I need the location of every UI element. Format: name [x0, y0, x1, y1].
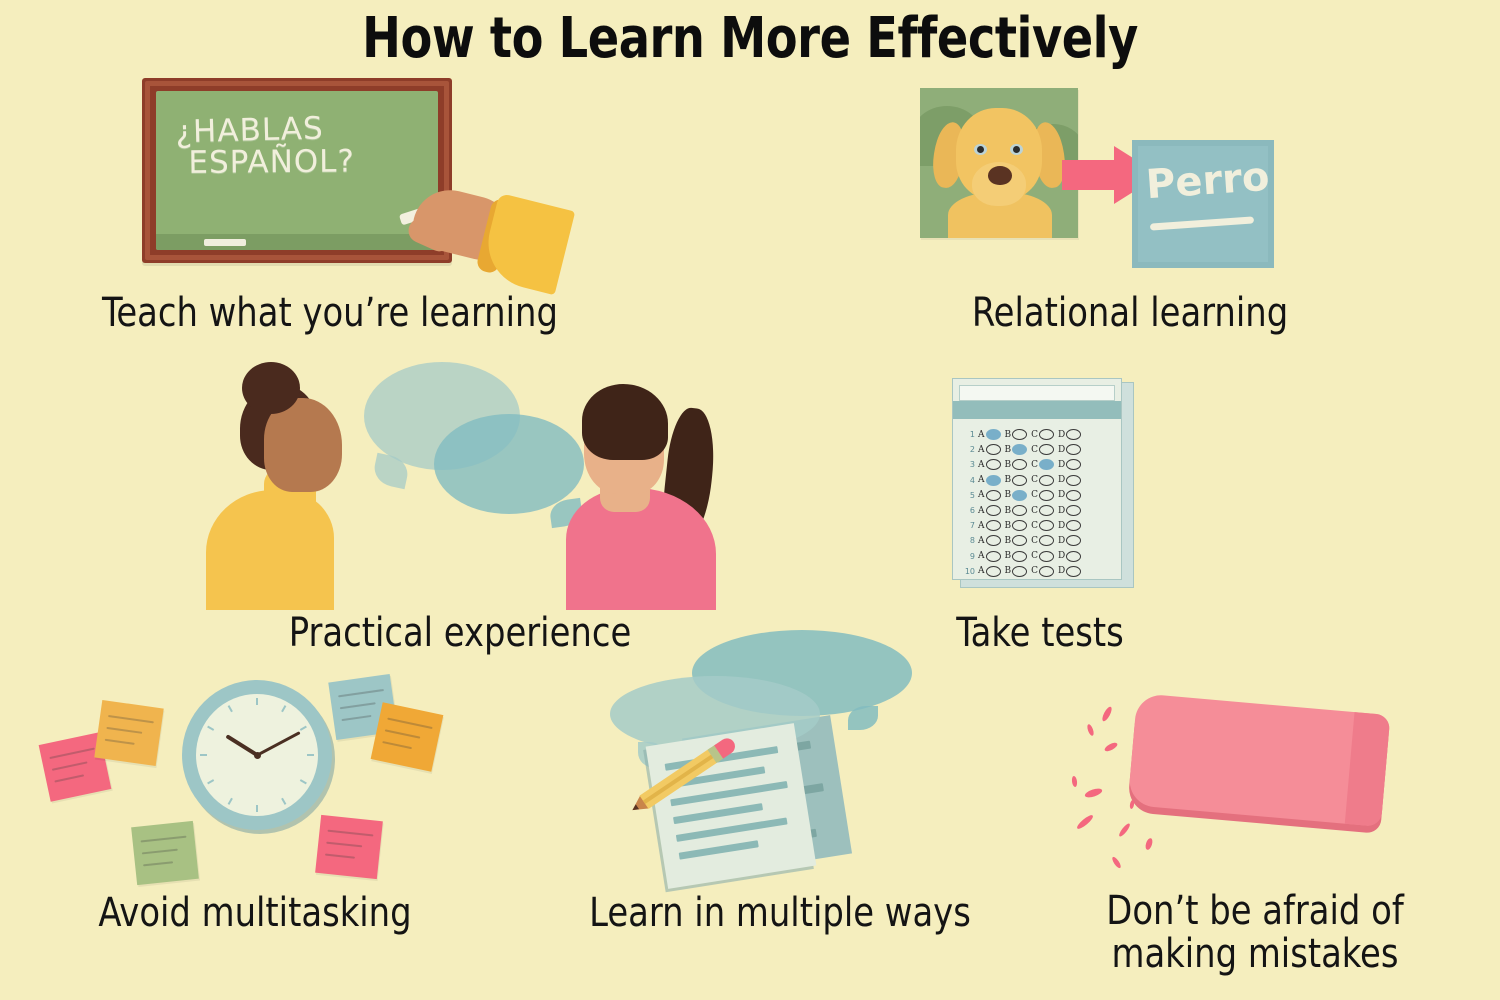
answer-option-d[interactable]: D — [1058, 535, 1081, 546]
option-bubble[interactable] — [1039, 475, 1054, 486]
option-bubble[interactable] — [1012, 444, 1027, 455]
scantron-answer-sheet-illustration: 1ABCD2ABCD3ABCD4ABCD5ABCD6ABCD7ABCD8ABCD… — [952, 378, 1128, 586]
eraser-shaving — [1111, 856, 1122, 870]
answer-row[interactable]: 2ABCD — [963, 442, 1113, 457]
answer-option-d[interactable]: D — [1058, 459, 1081, 470]
option-letter: D — [1058, 490, 1065, 500]
dog-eye-right — [1010, 144, 1023, 155]
answer-row[interactable]: 5ABCD — [963, 488, 1113, 503]
sticky-note — [94, 700, 163, 766]
clock-tick — [207, 726, 214, 731]
option-bubble[interactable] — [986, 444, 1001, 455]
answer-option-a[interactable]: A — [978, 505, 1001, 516]
option-bubble[interactable] — [1066, 520, 1081, 531]
answer-option-c[interactable]: C — [1031, 429, 1054, 440]
caption-learn-in-multiple-ways: Learn in multiple ways — [554, 892, 1005, 935]
eraser-shaving — [1144, 837, 1153, 850]
clock-face — [196, 694, 318, 816]
question-number: 4 — [963, 476, 975, 485]
option-letter: A — [978, 475, 985, 485]
answer-option-d[interactable]: D — [1058, 475, 1081, 486]
option-bubble[interactable] — [1012, 475, 1027, 486]
caption-teach-what-youre-learning: Teach what you’re learning — [76, 292, 584, 335]
option-bubble[interactable] — [1039, 520, 1054, 531]
eraser-illustration — [1060, 680, 1450, 880]
answer-option-c[interactable]: C — [1031, 566, 1054, 577]
answer-option-d[interactable]: D — [1058, 490, 1081, 501]
option-bubble[interactable] — [1066, 429, 1081, 440]
option-letter: B — [1005, 551, 1012, 561]
clock-minute-hand — [256, 731, 300, 756]
sticky-note — [315, 815, 383, 879]
clock-tick — [281, 705, 286, 712]
question-number: 2 — [963, 445, 975, 454]
option-bubble[interactable] — [1066, 475, 1081, 486]
answer-option-b[interactable]: B — [1005, 490, 1028, 501]
clock-tick — [300, 779, 307, 784]
answer-option-b[interactable]: B — [1005, 505, 1028, 516]
clock-center-pin — [254, 752, 261, 759]
answer-option-d[interactable]: D — [1058, 520, 1081, 531]
answer-sheet-rows: 1ABCD2ABCD3ABCD4ABCD5ABCD6ABCD7ABCD8ABCD… — [963, 427, 1113, 579]
clock-tick — [281, 798, 286, 805]
option-bubble[interactable] — [1012, 551, 1027, 562]
option-letter: D — [1058, 460, 1065, 470]
option-bubble[interactable] — [1039, 551, 1054, 562]
option-letter: D — [1058, 445, 1065, 455]
papers-and-pencil-illustration — [600, 630, 920, 880]
answer-option-c[interactable]: C — [1031, 535, 1054, 546]
eraser-shaving — [1129, 800, 1135, 810]
option-letter: C — [1031, 490, 1038, 500]
caption-relational-learning: Relational learning — [914, 292, 1346, 335]
page-title: How to Learn More Effectively — [60, 6, 1440, 71]
option-letter: C — [1031, 506, 1038, 516]
answer-option-c[interactable]: C — [1031, 475, 1054, 486]
eraser-shaving — [1071, 776, 1077, 788]
answer-option-c[interactable]: C — [1031, 444, 1054, 455]
option-bubble[interactable] — [986, 429, 1001, 440]
option-bubble[interactable] — [1012, 505, 1027, 516]
answer-option-a[interactable]: A — [978, 444, 1001, 455]
option-letter: C — [1031, 445, 1038, 455]
option-letter: A — [978, 506, 985, 516]
question-number: 6 — [963, 506, 975, 515]
answer-sheet-top-strip — [959, 385, 1115, 401]
option-letter: A — [978, 460, 985, 470]
wall-clock-icon — [182, 680, 332, 830]
option-letter: D — [1058, 521, 1065, 531]
word-card-underline — [1150, 216, 1254, 230]
answer-sheet-header-band — [953, 401, 1121, 419]
answer-option-b[interactable]: B — [1005, 551, 1028, 562]
option-bubble[interactable] — [1012, 490, 1027, 501]
option-bubble[interactable] — [1039, 459, 1054, 470]
caption-avoid-multitasking: Avoid multitasking — [67, 892, 443, 935]
option-bubble[interactable] — [1066, 551, 1081, 562]
answer-option-c[interactable]: C — [1031, 520, 1054, 531]
question-number: 8 — [963, 536, 975, 545]
option-letter: D — [1058, 551, 1065, 561]
option-bubble[interactable] — [986, 535, 1001, 546]
answer-option-b[interactable]: B — [1005, 520, 1028, 531]
answer-row[interactable]: 10ABCD — [963, 564, 1113, 579]
answer-option-a[interactable]: A — [978, 566, 1001, 577]
option-bubble[interactable] — [986, 475, 1001, 486]
option-letter: C — [1031, 566, 1038, 576]
answer-option-d[interactable]: D — [1058, 444, 1081, 455]
option-letter: A — [978, 521, 985, 531]
option-letter: B — [1005, 490, 1012, 500]
answer-option-b[interactable]: B — [1005, 475, 1028, 486]
option-letter: B — [1005, 566, 1012, 576]
infographic-canvas: How to Learn More Effectively ¿HABLAS ES… — [0, 0, 1500, 1000]
question-number: 10 — [963, 567, 975, 576]
answer-option-b[interactable]: B — [1005, 429, 1028, 440]
option-letter: C — [1031, 430, 1038, 440]
option-bubble[interactable] — [986, 566, 1001, 577]
question-number: 7 — [963, 521, 975, 530]
answer-option-c[interactable]: C — [1031, 505, 1054, 516]
option-bubble[interactable] — [1066, 535, 1081, 546]
question-number: 5 — [963, 491, 975, 500]
sticky-note — [131, 821, 199, 885]
answer-row[interactable]: 1ABCD — [963, 427, 1113, 442]
option-bubble[interactable] — [1012, 459, 1027, 470]
option-bubble[interactable] — [986, 505, 1001, 516]
option-letter: B — [1005, 506, 1012, 516]
option-bubble[interactable] — [986, 551, 1001, 562]
option-bubble[interactable] — [1066, 566, 1081, 577]
clock-tick — [256, 805, 258, 812]
answer-option-d[interactable]: D — [1058, 566, 1081, 577]
answer-option-b[interactable]: B — [1005, 566, 1028, 577]
question-number: 1 — [963, 430, 975, 439]
clock-tick — [228, 798, 233, 805]
arrow-shaft — [1062, 160, 1122, 190]
option-letter: C — [1031, 475, 1038, 485]
question-number: 3 — [963, 460, 975, 469]
answer-sheet-front-page: 1ABCD2ABCD3ABCD4ABCD5ABCD6ABCD7ABCD8ABCD… — [952, 378, 1122, 580]
caption-dont-be-afraid-of-making-mistakes: Don’t be afraid of making mistakes — [1067, 890, 1443, 976]
answer-option-a[interactable]: A — [978, 490, 1001, 501]
option-letter: B — [1005, 445, 1012, 455]
person-right — [516, 360, 716, 610]
clock-tick — [307, 754, 314, 756]
option-letter: B — [1005, 536, 1012, 546]
answer-option-d[interactable]: D — [1058, 429, 1081, 440]
clock-tick — [200, 754, 207, 756]
option-bubble[interactable] — [1039, 444, 1054, 455]
option-letter: B — [1005, 475, 1012, 485]
eraser-shaving — [1101, 706, 1114, 723]
answer-option-c[interactable]: C — [1031, 459, 1054, 470]
clock-tick — [207, 779, 214, 784]
clock-hour-hand — [225, 734, 258, 756]
chalkboard-text: ¿HABLAS ESPAÑOL? — [175, 110, 431, 182]
answer-row[interactable]: 8ABCD — [963, 533, 1113, 548]
answer-option-a[interactable]: A — [978, 520, 1001, 531]
dog-eye-left — [974, 144, 987, 155]
option-bubble[interactable] — [1012, 535, 1027, 546]
dog-nose-shape — [988, 166, 1012, 185]
eraser-block — [1128, 693, 1391, 827]
option-bubble[interactable] — [986, 459, 1001, 470]
option-bubble[interactable] — [1039, 429, 1054, 440]
chalk-piece-icon — [204, 239, 246, 246]
answer-option-b[interactable]: B — [1005, 444, 1028, 455]
option-letter: D — [1058, 506, 1065, 516]
option-bubble[interactable] — [1039, 505, 1054, 516]
answer-row[interactable]: 6ABCD — [963, 503, 1113, 518]
clock-tick — [256, 698, 258, 705]
option-letter: D — [1058, 430, 1065, 440]
answer-row[interactable]: 7ABCD — [963, 518, 1113, 533]
option-letter: A — [978, 490, 985, 500]
word-card-text: Perro — [1145, 154, 1271, 208]
eraser-shaving — [1086, 724, 1095, 737]
answer-option-d[interactable]: D — [1058, 551, 1081, 562]
option-letter: D — [1058, 475, 1065, 485]
option-bubble[interactable] — [1039, 535, 1054, 546]
caption-take-tests: Take tests — [908, 612, 1171, 655]
option-bubble[interactable] — [1039, 566, 1054, 577]
option-bubble[interactable] — [986, 520, 1001, 531]
option-bubble[interactable] — [1012, 566, 1027, 577]
option-letter: A — [978, 551, 985, 561]
dog-photo-illustration — [920, 88, 1078, 238]
option-letter: A — [978, 445, 985, 455]
question-number: 9 — [963, 552, 975, 561]
answer-option-c[interactable]: C — [1031, 551, 1054, 562]
person-left-hair-bun — [242, 362, 300, 414]
option-letter: A — [978, 566, 985, 576]
chalkboard-line-2: ESPAÑOL? — [188, 145, 430, 180]
person-right-hair — [582, 384, 668, 460]
word-card-perro: Perro — [1132, 140, 1274, 268]
option-letter: A — [978, 536, 985, 546]
answer-option-a[interactable]: A — [978, 429, 1001, 440]
option-letter: C — [1031, 551, 1038, 561]
answer-option-a[interactable]: A — [978, 535, 1001, 546]
option-bubble[interactable] — [986, 490, 1001, 501]
option-bubble[interactable] — [1066, 490, 1081, 501]
option-letter: D — [1058, 566, 1065, 576]
clock-tick — [228, 705, 233, 712]
hand-with-chalk-icon — [400, 185, 560, 295]
option-letter: B — [1005, 460, 1012, 470]
answer-option-b[interactable]: B — [1005, 459, 1028, 470]
answer-row[interactable]: 4ABCD — [963, 473, 1113, 488]
answer-option-b[interactable]: B — [1005, 535, 1028, 546]
option-bubble[interactable] — [1066, 444, 1081, 455]
option-letter: C — [1031, 521, 1038, 531]
sticky-note — [371, 702, 444, 772]
option-bubble[interactable] — [1066, 459, 1081, 470]
option-letter: B — [1005, 430, 1012, 440]
answer-option-d[interactable]: D — [1058, 505, 1081, 516]
option-bubble[interactable] — [1039, 490, 1054, 501]
option-bubble[interactable] — [1012, 429, 1027, 440]
answer-row[interactable]: 9ABCD — [963, 549, 1113, 564]
eraser-shaving — [1103, 741, 1118, 753]
option-letter: C — [1031, 536, 1038, 546]
answer-row[interactable]: 3ABCD — [963, 457, 1113, 472]
answer-option-a[interactable]: A — [978, 475, 1001, 486]
option-letter: A — [978, 430, 985, 440]
person-left — [206, 360, 386, 610]
clock-and-sticky-notes-illustration — [40, 660, 460, 890]
option-letter: D — [1058, 536, 1065, 546]
two-women-talking-illustration — [196, 352, 716, 610]
answer-option-a[interactable]: A — [978, 551, 1001, 562]
eraser-shaving — [1084, 787, 1103, 799]
chalkboard-surface: ¿HABLAS ESPAÑOL? — [156, 91, 438, 250]
option-letter: B — [1005, 521, 1012, 531]
option-bubble[interactable] — [1012, 520, 1027, 531]
answer-option-c[interactable]: C — [1031, 490, 1054, 501]
option-letter: C — [1031, 460, 1038, 470]
answer-option-a[interactable]: A — [978, 459, 1001, 470]
eraser-shaving — [1075, 813, 1094, 830]
option-bubble[interactable] — [1066, 505, 1081, 516]
eraser-shaving — [1118, 822, 1132, 838]
clock-tick — [300, 726, 307, 731]
